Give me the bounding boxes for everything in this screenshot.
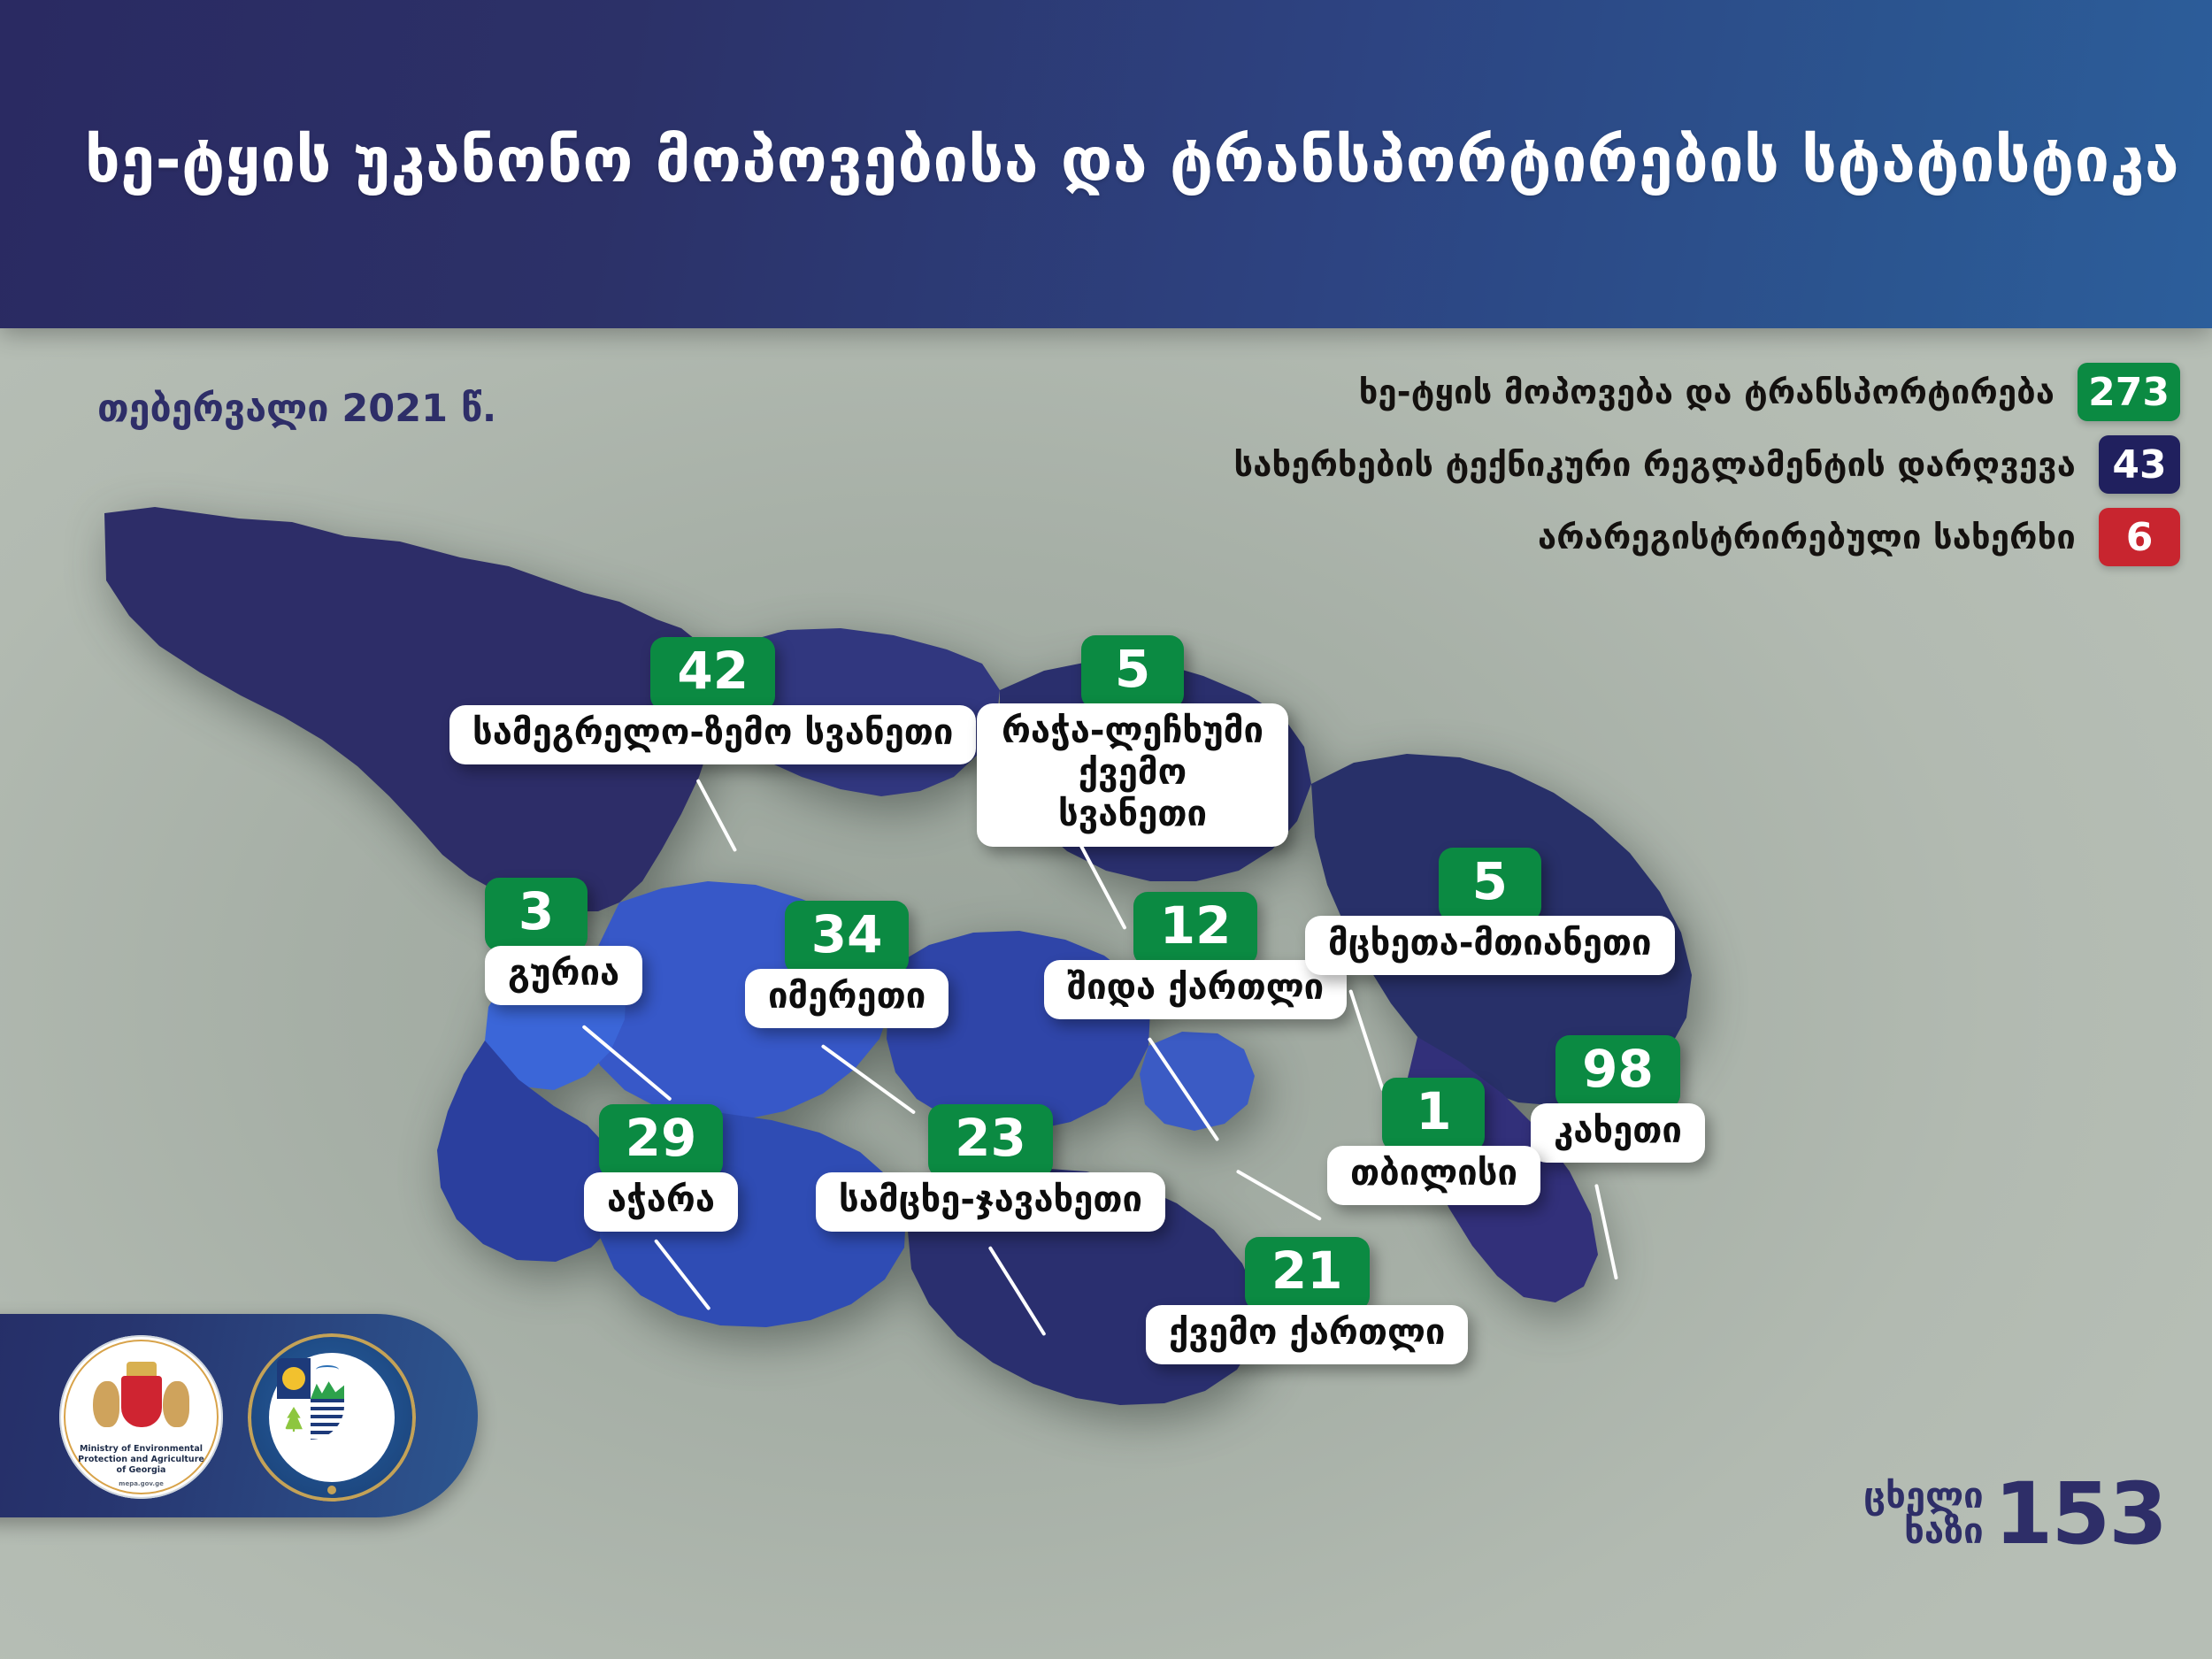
logo-pill: Ministry of Environmental Protection and…	[0, 1314, 478, 1517]
legend-badge-red: 6	[2099, 508, 2180, 566]
tree-icon	[284, 1407, 303, 1432]
legend-row: სახერხების ტექნიკური რეგლამენტის დარღვევ…	[1030, 435, 2180, 494]
shield-quadrant-mountains	[311, 1358, 344, 1399]
callout-label: ქვემო ქართლი	[1146, 1305, 1468, 1364]
callout-value: 3	[485, 878, 588, 951]
ministry-line3: of Georgia	[59, 1465, 223, 1476]
callout-label: აჭარა	[584, 1172, 738, 1232]
callout-value: 5	[1081, 635, 1184, 709]
environmental-supervision-emblem-icon	[248, 1333, 416, 1502]
callout-shida-kartli: 12 შიდა ქართლი	[1044, 892, 1347, 1019]
legend-badge-navy: 43	[2099, 435, 2180, 494]
callout-label: გურია	[485, 946, 642, 1005]
callout-value: 42	[650, 637, 775, 710]
crown-icon	[127, 1362, 157, 1376]
callout-label: მცხეთა-მთიანეთი	[1305, 916, 1675, 975]
legend-row: ხე-ტყის მოპოვება და ტრანსპორტირება 273	[1030, 363, 2180, 421]
callout-value: 5	[1439, 848, 1541, 921]
hotline-words: ცხელი ხაზი	[1863, 1479, 1983, 1549]
ministry-url: mepa.gov.ge	[59, 1480, 223, 1487]
shield-quadrant-sun	[277, 1358, 311, 1399]
emblem-dot	[327, 1486, 336, 1494]
ministry-emblem-text: Ministry of Environmental Protection and…	[59, 1444, 223, 1476]
legend-label: ხე-ტყის მოპოვება და ტრანსპორტირება	[1359, 373, 2055, 411]
hotline-word2: ხაზი	[1863, 1514, 1983, 1549]
callout-label: იმერეთი	[745, 969, 949, 1028]
date-label: თებერვალი 2021 წ.	[97, 387, 496, 431]
callout-kvemo-kartli: 21 ქვემო ქართლი	[1146, 1237, 1468, 1364]
mountains-icon	[311, 1379, 344, 1399]
hotline: ცხელი ხაზი 153	[1863, 1475, 2166, 1553]
callout-value: 1	[1382, 1078, 1485, 1151]
callout-value: 21	[1245, 1237, 1370, 1310]
waves-icon	[311, 1399, 344, 1440]
callout-samtskhe-javakheti: 23 სამცხე-ჯავახეთი	[816, 1104, 1165, 1232]
callout-imereti: 34 იმერეთი	[745, 901, 949, 1028]
callout-mtskheta-mtianeti: 5 მცხეთა-მთიანეთი	[1305, 848, 1675, 975]
callout-label: რაჭა-ლეჩხუმი ქვემო სვანეთი	[977, 703, 1288, 847]
callout-samegrelo-zemo-svaneti: 42 სამეგრელო-ზემო სვანეთი	[449, 637, 976, 764]
legend-badge-green: 273	[2078, 363, 2180, 421]
hotline-word1: ცხელი	[1863, 1479, 1983, 1514]
lion-left-icon	[93, 1381, 119, 1427]
callout-label: სამეგრელო-ზემო სვანეთი	[449, 705, 976, 764]
callout-label: შიდა ქართლი	[1044, 960, 1347, 1019]
quartered-shield-icon	[277, 1358, 344, 1440]
header-banner: ხე-ტყის უკანონო მოპოვებისა და ტრანსპორტი…	[0, 0, 2212, 328]
shield-icon	[121, 1376, 162, 1427]
ministry-line1: Ministry of Environmental	[59, 1444, 223, 1455]
ministry-emblem-icon: Ministry of Environmental Protection and…	[59, 1335, 223, 1499]
page-title: ხე-ტყის უკანონო მოპოვებისა და ტრანსპორტი…	[85, 124, 2179, 196]
georgia-map	[0, 495, 1973, 1451]
hotline-number: 153	[1994, 1475, 2166, 1553]
lion-right-icon	[163, 1381, 189, 1427]
callout-label: თბილისი	[1327, 1146, 1540, 1205]
infographic-root: ხე-ტყის უკანონო მოპოვებისა და ტრანსპორტი…	[0, 0, 2212, 1659]
legend-label: სახერხების ტექნიკური რეგლამენტის დარღვევ…	[1233, 445, 2076, 484]
callout-label: კახეთი	[1531, 1103, 1705, 1163]
sun-icon	[282, 1367, 305, 1390]
ministry-line2: Protection and Agriculture	[59, 1455, 223, 1465]
callout-adjara: 29 აჭარა	[584, 1104, 738, 1232]
shield-quadrant-tree	[277, 1399, 311, 1440]
callout-value: 34	[785, 901, 910, 974]
callout-value: 98	[1555, 1035, 1680, 1109]
birds-icon	[316, 1365, 339, 1374]
shield-quadrant-waves	[311, 1399, 344, 1440]
callout-kakheti: 98 კახეთი	[1531, 1035, 1705, 1163]
callout-racha-lechkhumi: 5 რაჭა-ლეჩხუმი ქვემო სვანეთი	[991, 635, 1274, 847]
map-svg	[0, 495, 1973, 1451]
callout-value: 12	[1133, 892, 1258, 965]
callout-tbilisi: 1 თბილისი	[1327, 1078, 1540, 1205]
callout-value: 29	[599, 1104, 724, 1178]
callout-label: სამცხე-ჯავახეთი	[816, 1172, 1165, 1232]
callout-value: 23	[928, 1104, 1053, 1178]
callout-guria: 3 გურია	[485, 878, 642, 1005]
